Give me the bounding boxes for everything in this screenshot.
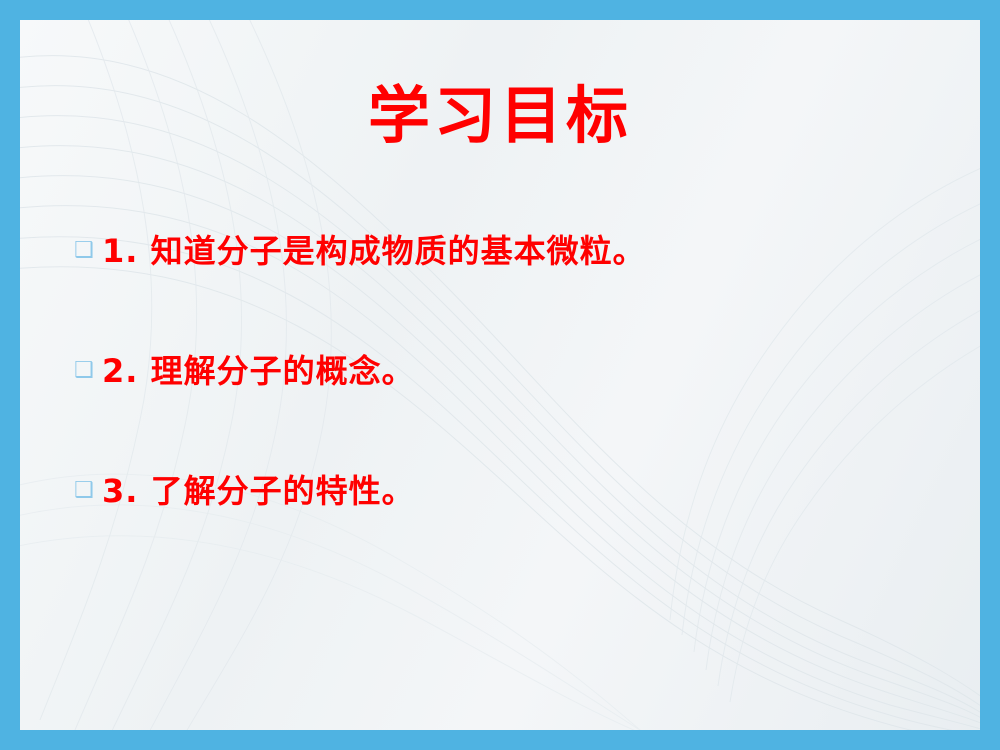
list-item-label: 2. 理解分子的概念。	[102, 345, 415, 397]
bullet-list: ❑ 1. 知道分子是构成物质的基本微粒。 ❑ 2. 理解分子的概念。 ❑ 3. …	[68, 225, 940, 585]
bullet-square-icon: ❑	[68, 225, 102, 277]
list-item: ❑ 2. 理解分子的概念。	[68, 345, 940, 397]
bullet-square-icon: ❑	[68, 345, 102, 397]
slide-title: 学习目标	[20, 82, 980, 150]
slide-content-area: 学习目标 ❑ 1. 知道分子是构成物质的基本微粒。 ❑ 2. 理解分子的概念。 …	[20, 20, 980, 730]
list-item: ❑ 1. 知道分子是构成物质的基本微粒。	[68, 225, 940, 277]
bullet-square-icon: ❑	[68, 465, 102, 517]
list-item: ❑ 3. 了解分子的特性。	[68, 465, 940, 517]
list-item-label: 3. 了解分子的特性。	[102, 465, 415, 517]
slide-frame: 学习目标 ❑ 1. 知道分子是构成物质的基本微粒。 ❑ 2. 理解分子的概念。 …	[0, 0, 1000, 750]
list-item-label: 1. 知道分子是构成物质的基本微粒。	[102, 225, 646, 277]
